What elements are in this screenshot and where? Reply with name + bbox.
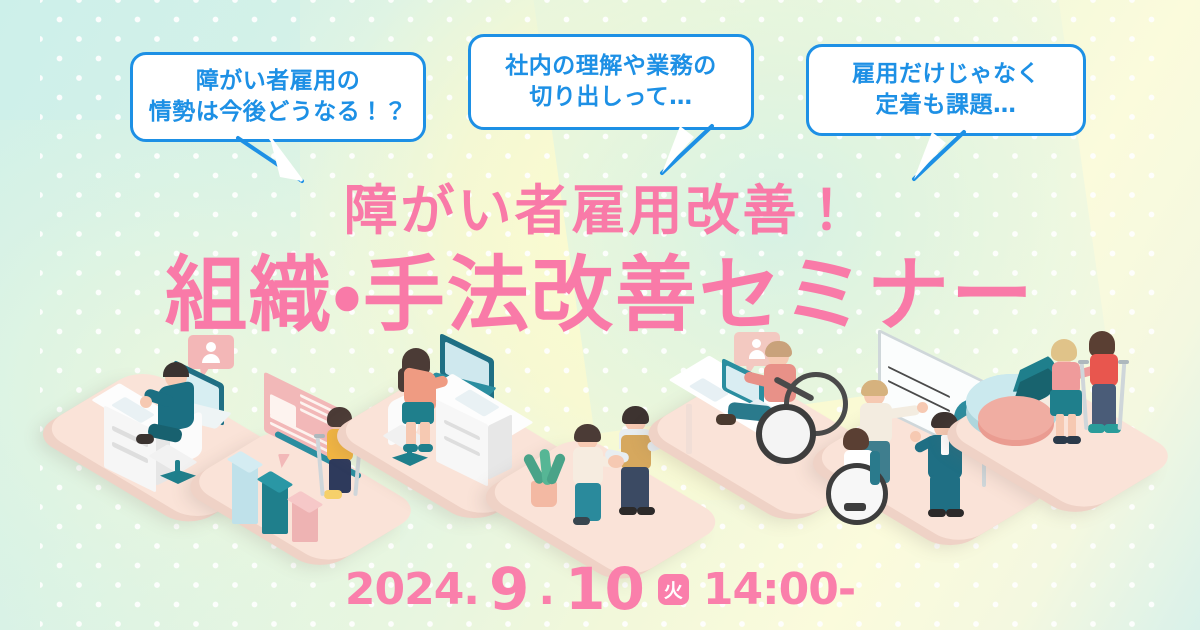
person-shoe bbox=[136, 434, 154, 444]
speech-bubble-1: 障がい者雇用の 情勢は今後どうなる！？ bbox=[130, 52, 426, 142]
person-shoe bbox=[1066, 436, 1081, 444]
bar-chart-bar-1 bbox=[232, 462, 258, 524]
event-date-separator: . bbox=[538, 564, 555, 615]
person-torso bbox=[573, 447, 603, 485]
person-hair bbox=[622, 406, 649, 424]
wheelchair-backrest bbox=[870, 451, 880, 485]
wheelchair-person-hair bbox=[843, 428, 869, 450]
person-legs bbox=[329, 459, 351, 493]
speech-bubble-1-line-1: 障がい者雇用の bbox=[196, 66, 361, 97]
crutch-right-grip bbox=[1118, 360, 1129, 364]
handshake-hands bbox=[608, 455, 624, 468]
chair-post bbox=[175, 460, 180, 474]
event-weekday-badge: 火 bbox=[658, 574, 689, 605]
event-time: 14:00- bbox=[703, 564, 855, 615]
event-day: 10 bbox=[565, 560, 644, 618]
event-month: 9 bbox=[489, 560, 528, 618]
person-skirt bbox=[402, 402, 434, 424]
person-hand bbox=[140, 396, 152, 408]
person-shoe bbox=[573, 517, 590, 525]
crutch-left-grip bbox=[1078, 360, 1089, 364]
person-hand bbox=[910, 431, 921, 442]
desk-leg bbox=[686, 404, 692, 454]
person-legs bbox=[1092, 384, 1116, 428]
person-skirt bbox=[1050, 390, 1082, 416]
person-shoe bbox=[716, 414, 736, 425]
speech-bubble-3-line-2: 定着も課題… bbox=[876, 90, 1017, 121]
person-shoe bbox=[418, 444, 433, 452]
person-shoe bbox=[928, 509, 946, 517]
speech-bubble-2-line-2: 切り出しって… bbox=[529, 82, 692, 113]
person-hair bbox=[931, 412, 958, 428]
presenter-hand bbox=[917, 402, 928, 413]
headline-line-2: 組織・手法改善セミナー bbox=[0, 228, 1200, 347]
crutch-left-grip bbox=[314, 434, 325, 438]
person-legs bbox=[575, 483, 601, 521]
event-year: 2024. bbox=[345, 564, 479, 615]
wheelchair-footrest bbox=[844, 503, 866, 511]
speech-bubble-3-line-1: 雇用だけじゃなく bbox=[852, 59, 1040, 90]
person-torso bbox=[1090, 354, 1118, 386]
person-shirt bbox=[941, 435, 949, 455]
wheelchair-wheel-front bbox=[756, 404, 816, 464]
speech-bubble-2-line-1: 社内の理解や業務の bbox=[505, 51, 717, 82]
avatar-body-icon bbox=[749, 350, 765, 359]
plant-pot bbox=[531, 481, 557, 507]
speech-bubble-3: 雇用だけじゃなく 定着も課題… bbox=[806, 44, 1086, 136]
banner-canvas: 障がい者雇用の 情勢は今後どうなる！？ 社内の理解や業務の 切り出しって… 雇用… bbox=[0, 0, 1200, 630]
person-shoe bbox=[324, 490, 342, 499]
person-shoe bbox=[619, 507, 637, 515]
pie-slice-pink-top bbox=[978, 396, 1054, 440]
scene-piechart-conversation bbox=[962, 330, 1200, 530]
person-legs bbox=[621, 467, 649, 511]
person-legs bbox=[930, 475, 960, 513]
crutch-right bbox=[1118, 360, 1127, 430]
speech-bubble-2: 社内の理解や業務の 切り出しって… bbox=[468, 34, 754, 130]
event-date-row: 2024. 9 . 10 火 14:00- bbox=[0, 560, 1200, 618]
person-hair bbox=[574, 424, 601, 442]
presenter-hair bbox=[861, 380, 888, 396]
speech-bubble-1-line-2: 情勢は今後どうなる！？ bbox=[149, 97, 408, 128]
person-shoe bbox=[403, 444, 418, 452]
person-shoe bbox=[1088, 424, 1105, 433]
person-shoe bbox=[637, 507, 655, 515]
